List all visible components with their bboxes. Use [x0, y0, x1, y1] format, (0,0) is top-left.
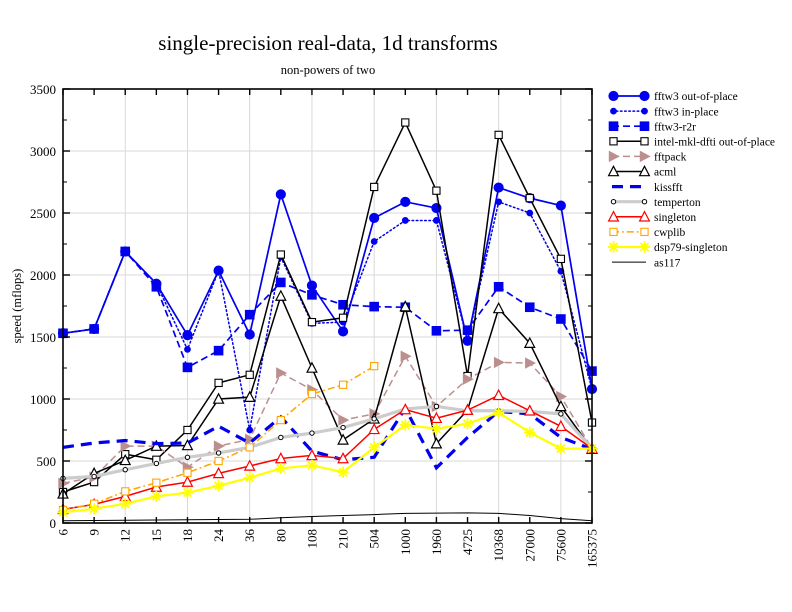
legend-label: singleton — [654, 212, 696, 224]
x-tick-label: 15 — [149, 529, 164, 542]
legend-label: temperton — [654, 197, 701, 209]
x-tick-label: 6 — [56, 529, 71, 536]
legend-label: as117 — [654, 257, 681, 269]
legend-label: dsp79-singleton — [654, 242, 728, 254]
legend-item[interactable]: cwplib — [610, 227, 686, 239]
y-tick-label: 1500 — [30, 330, 56, 345]
series-line — [63, 188, 592, 389]
x-tick-label: 36 — [242, 529, 257, 543]
x-tick-label: 108 — [304, 529, 319, 549]
legend-item[interactable]: kissfft — [612, 182, 683, 194]
y-tick-label: 2500 — [30, 206, 56, 221]
chart-subtitle: non-powers of two — [281, 63, 375, 77]
series-layer — [57, 119, 597, 521]
x-tick-label: 10368 — [491, 529, 506, 562]
legend-item[interactable]: singleton — [609, 212, 697, 224]
x-tick-label: 18 — [180, 529, 195, 542]
legend-item[interactable]: fftpack — [609, 152, 686, 164]
legend-label: fftw3 out-of-place — [654, 91, 738, 103]
legend-item[interactable]: temperton — [611, 197, 701, 209]
chart-title: single-precision real-data, 1d transform… — [158, 31, 497, 55]
legend-label: cwplib — [654, 227, 686, 239]
x-tick-label: 1960 — [429, 529, 444, 555]
legend-label: acml — [654, 167, 676, 179]
y-tick-label: 3000 — [30, 144, 56, 159]
x-tick-label: 9 — [87, 529, 102, 536]
legend-item[interactable]: dsp79-singleton — [608, 241, 728, 254]
y-tick-label: 500 — [37, 454, 57, 469]
legend-item[interactable]: intel-mkl-dfti out-of-place — [610, 137, 775, 149]
legend-item[interactable]: acml — [609, 166, 677, 178]
legend-item[interactable]: fftw3 in-place — [611, 106, 719, 118]
x-tick-label: 75600 — [553, 529, 568, 562]
y-tick-label: 3500 — [30, 82, 56, 97]
x-tick-label: 4725 — [460, 529, 475, 555]
series-fftw3-r2r — [59, 247, 597, 375]
series-line — [63, 202, 592, 430]
series-line — [63, 356, 592, 483]
x-tick-label: 210 — [336, 529, 351, 549]
y-axis-label: speed (mflops) — [10, 269, 24, 344]
series-kissfft — [63, 408, 592, 468]
series-line — [63, 408, 592, 468]
series-markers — [60, 199, 595, 433]
x-tick-label: 1000 — [398, 529, 413, 555]
legend-label: fftpack — [654, 152, 687, 164]
x-tick-label: 165375 — [585, 529, 600, 568]
series-line — [63, 296, 592, 494]
series-as117 — [63, 513, 592, 521]
y-tick-label: 0 — [50, 516, 57, 531]
x-tick-label: 24 — [211, 529, 226, 543]
y-tick-label: 1000 — [30, 392, 56, 407]
legend-label: fftw3-r2r — [654, 121, 696, 133]
legend-label: intel-mkl-dfti out-of-place — [654, 137, 775, 149]
series-singleton — [58, 390, 597, 513]
y-tick-label: 2000 — [30, 268, 56, 283]
x-tick-label: 27000 — [522, 529, 537, 562]
legend-item[interactable]: as117 — [612, 257, 681, 269]
chart-svg: single-precision real-data, 1d transform… — [0, 0, 792, 612]
legend-item[interactable]: fftw3-r2r — [609, 121, 696, 133]
x-tick-label: 504 — [367, 529, 382, 549]
legend-label: fftw3 in-place — [654, 106, 719, 118]
series-line — [63, 413, 592, 513]
series-fftw3-in-place — [60, 199, 595, 433]
legend: fftw3 out-of-placefftw3 in-placefftw3-r2… — [608, 91, 775, 269]
series-markers — [58, 390, 597, 513]
chart-figure: single-precision real-data, 1d transform… — [0, 0, 792, 612]
legend-label: kissfft — [654, 182, 683, 194]
series-dsp79-singleton — [57, 407, 597, 518]
series-line — [63, 513, 592, 521]
x-tick-label: 80 — [273, 529, 288, 542]
legend-item[interactable]: fftw3 out-of-place — [609, 91, 738, 103]
x-tick-label: 12 — [118, 529, 133, 542]
